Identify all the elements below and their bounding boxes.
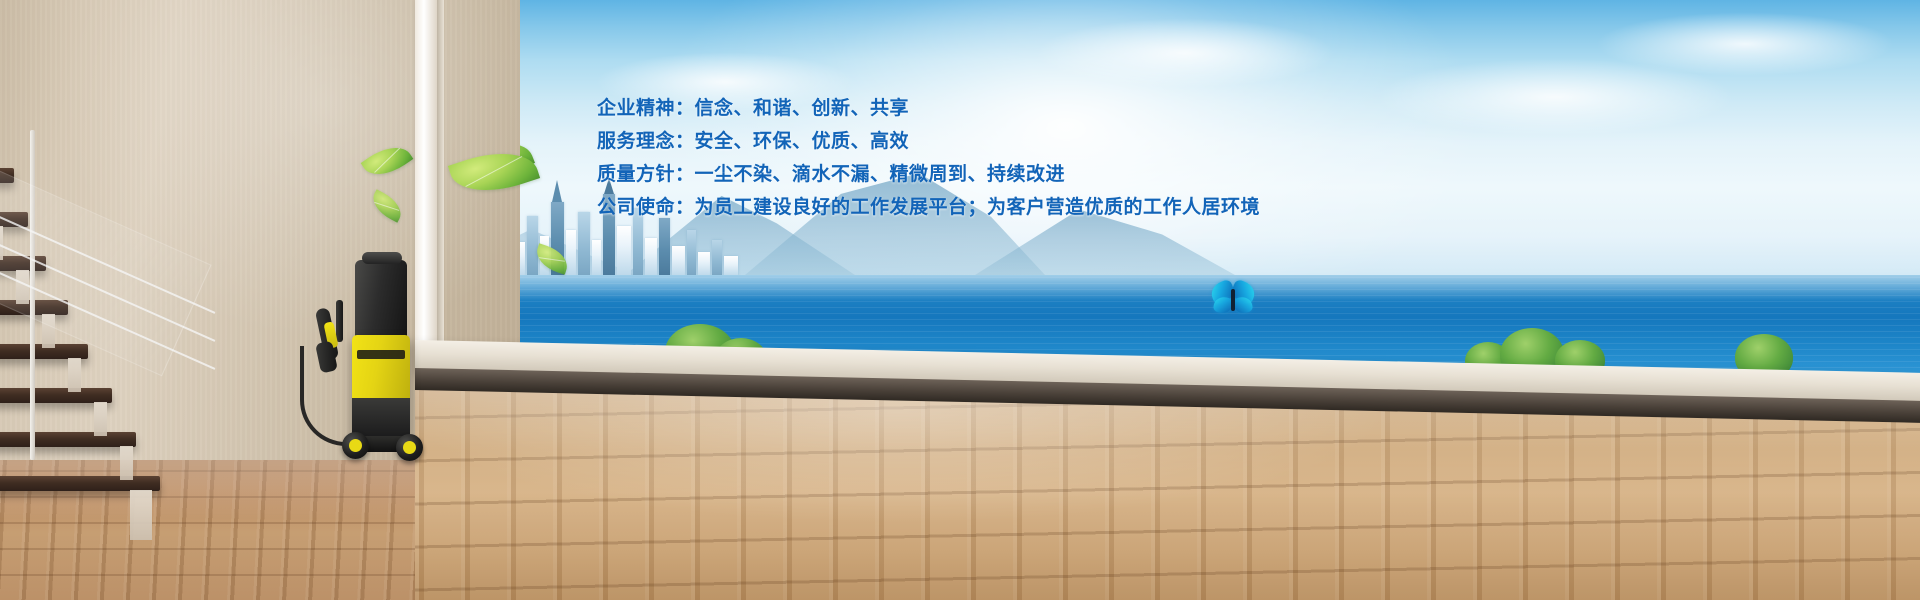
building	[724, 256, 738, 276]
building	[592, 240, 601, 276]
wheel-hub	[349, 439, 362, 452]
leaf-vein	[374, 148, 400, 173]
building	[712, 240, 722, 276]
philosophy-line-quality: 质量方针：一尘不染、滴水不漏、精微周到、持续改进	[597, 158, 1357, 191]
building	[687, 230, 696, 276]
building	[566, 230, 576, 276]
philosophy-line-service: 服务理念：安全、环保、优质、高效	[597, 125, 1357, 158]
butterfly-body	[1231, 289, 1235, 311]
floating-staircase	[0, 150, 240, 510]
corporate-culture-banner: 企业精神：信念、和谐、创新、共享 服务理念：安全、环保、优质、高效 质量方针：一…	[0, 0, 1920, 600]
butterfly-icon	[1210, 280, 1256, 320]
leaf-vein	[539, 257, 565, 262]
wheel-hub	[403, 441, 416, 454]
leaf-vein	[375, 202, 400, 211]
building	[527, 216, 538, 276]
philosophy-line-mission: 公司使命：为员工建设良好的工作发展平台；为客户营造优质的工作人居环境	[597, 191, 1357, 224]
leaf-vein	[465, 156, 522, 187]
pressure-washer-handle	[362, 252, 402, 264]
stair-step	[0, 388, 112, 403]
window-frame-left-inner	[437, 0, 444, 372]
stair-step	[0, 432, 136, 447]
pressure-washer-wheel	[342, 432, 369, 459]
pressure-washer-label-strip	[357, 350, 405, 359]
pressure-washer-wheel	[396, 434, 423, 461]
building	[645, 238, 657, 276]
building	[617, 226, 631, 276]
cloud-1	[1035, 18, 1335, 88]
building	[578, 212, 590, 276]
pressure-washer	[300, 250, 430, 465]
building	[659, 218, 670, 276]
cloud-4	[1595, 12, 1895, 76]
building	[698, 252, 710, 276]
stair-riser	[94, 402, 107, 436]
stair-riser	[68, 358, 81, 392]
stair-step	[0, 476, 160, 491]
building	[672, 246, 685, 276]
stair-riser	[120, 446, 133, 480]
philosophy-text-block: 企业精神：信念、和谐、创新、共享 服务理念：安全、环保、优质、高效 质量方针：一…	[597, 92, 1357, 224]
philosophy-line-spirit: 企业精神：信念、和谐、创新、共享	[597, 92, 1357, 125]
pressure-washer-spray-gun	[312, 308, 352, 368]
building-spire	[552, 180, 562, 202]
stair-riser	[130, 490, 152, 540]
pressure-washer-housing-top	[355, 260, 407, 340]
